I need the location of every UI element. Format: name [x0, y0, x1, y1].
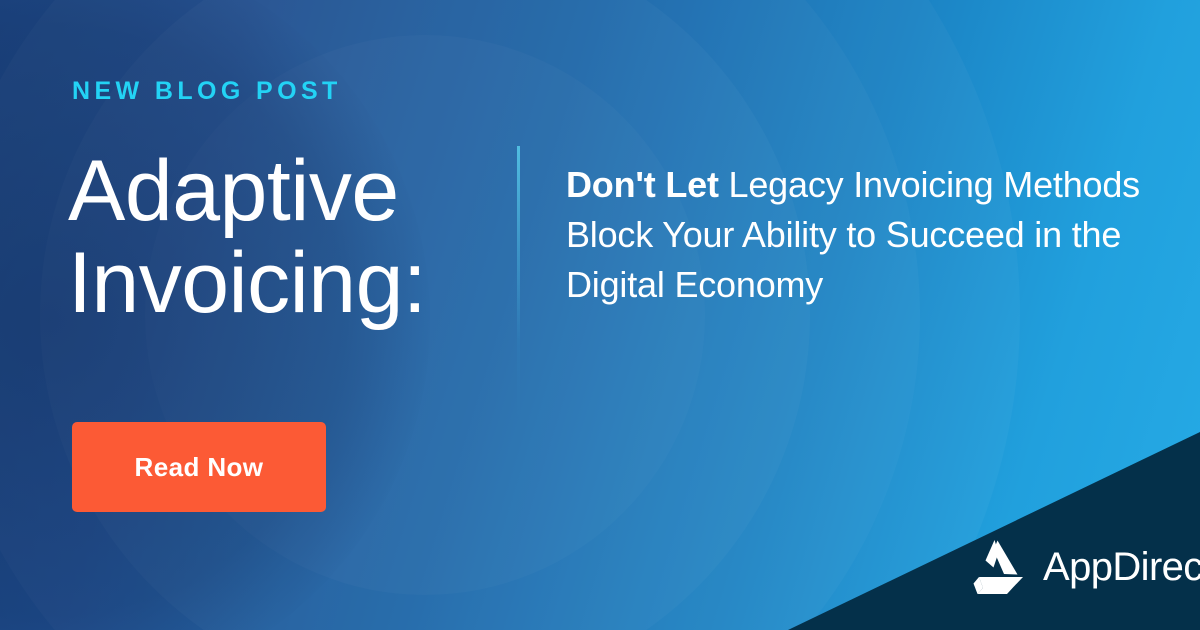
subheadline: Don't Let Legacy Invoicing Methods Block…: [566, 160, 1178, 310]
subheadline-emphasis: Don't Let: [566, 164, 719, 205]
promo-banner: NEW BLOG POST Adaptive Invoicing: Don't …: [0, 0, 1200, 630]
page-title: Adaptive Invoicing:: [68, 145, 508, 329]
headline-line-2: Invoicing:: [68, 237, 508, 329]
appdirect-wordmark: AppDirect: [1043, 547, 1200, 587]
read-now-button[interactable]: Read Now: [72, 422, 326, 512]
vertical-divider: [517, 146, 520, 418]
headline-line-1: Adaptive: [68, 145, 508, 237]
eyebrow-label: NEW BLOG POST: [72, 79, 342, 104]
appdirect-logo: AppDirect: [968, 536, 1180, 598]
appdirect-logo-mark: [968, 538, 1030, 596]
